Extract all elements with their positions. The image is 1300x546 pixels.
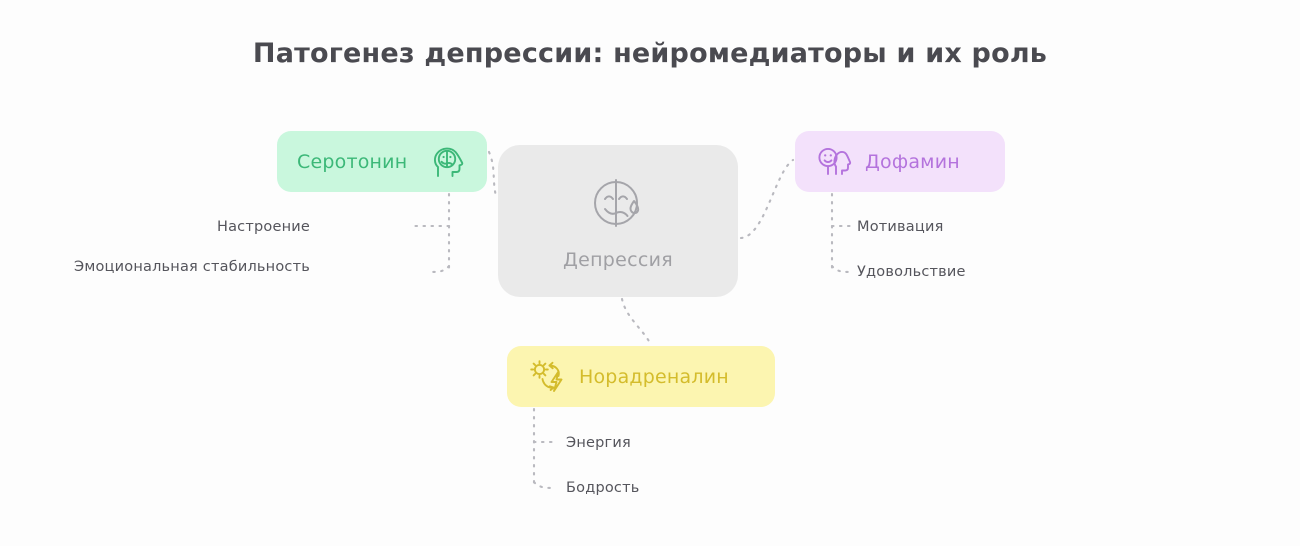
sublabel-dopamine-motivation: Мотивация [857, 219, 944, 235]
node-serotonin[interactable]: Серотонин [277, 131, 487, 192]
head-with-smiley-icon [815, 143, 853, 181]
sublabel-serotonin-mood: Настроение [110, 219, 310, 235]
sublabel-noradrenaline-vigor: Бодрость [566, 480, 639, 496]
page-title: Патогенез депрессии: нейромедиаторы и их… [0, 38, 1300, 69]
sublabel-dopamine-pleasure: Удовольствие [857, 264, 966, 280]
head-with-face-icon [429, 143, 467, 181]
node-center-depression[interactable]: Депрессия [498, 145, 738, 297]
split-face-sad-happy-icon [586, 171, 650, 235]
edge-center-dopamine [741, 160, 793, 238]
node-dopamine[interactable]: Дофамин [795, 131, 1005, 192]
edge-noradrenaline-vigor [534, 482, 556, 488]
node-serotonin-label: Серотонин [297, 151, 407, 173]
sublabel-serotonin-stability: Эмоциональная стабильность [55, 259, 310, 275]
edge-serotonin-stability [430, 266, 449, 272]
center-node-label: Депрессия [563, 249, 673, 271]
node-noradrenaline-label: Норадреналин [579, 366, 729, 388]
node-dopamine-label: Дофамин [865, 151, 960, 173]
sun-lightning-cycle-icon [527, 357, 567, 397]
edge-center-noradrenaline [622, 299, 651, 345]
diagram-canvas: Патогенез депрессии: нейромедиаторы и их… [0, 0, 1300, 546]
edge-dopamine-pleasure [832, 266, 851, 272]
edge-serotonin-center [489, 152, 496, 196]
node-noradrenaline[interactable]: Норадреналин [507, 346, 775, 407]
sublabel-noradrenaline-energy: Энергия [566, 435, 631, 451]
